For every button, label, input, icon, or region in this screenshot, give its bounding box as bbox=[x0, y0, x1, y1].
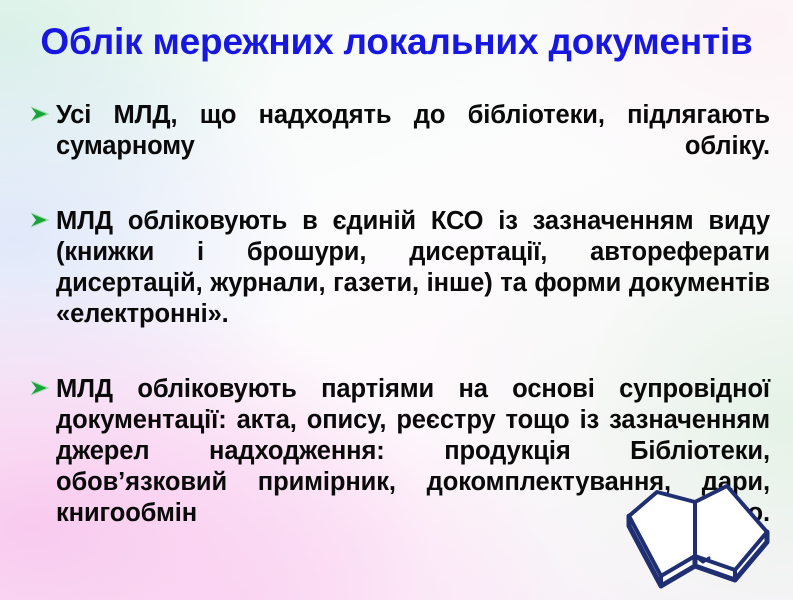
list-item: Усі МЛД, що надходять до бібліотеки, під… bbox=[28, 100, 770, 193]
slide-canvas: Облік мережних локальних документів Усі … bbox=[0, 0, 793, 600]
page-title: Облік мережних локальних документів bbox=[40, 22, 752, 63]
arrow-bullet-icon bbox=[28, 100, 56, 127]
open-book-icon bbox=[599, 480, 787, 598]
list-item-label: Усі МЛД, що надходять до бібліотеки, під… bbox=[56, 100, 770, 193]
arrow-bullet-icon bbox=[28, 374, 56, 401]
list-item-label: МЛД обліковують в єдиній КСО із зазначен… bbox=[56, 206, 770, 361]
slide-title-area: Облік мережних локальних документів bbox=[0, 22, 793, 63]
list-item: МЛД обліковують в єдиній КСО із зазначен… bbox=[28, 206, 770, 361]
arrow-bullet-icon bbox=[28, 206, 56, 233]
